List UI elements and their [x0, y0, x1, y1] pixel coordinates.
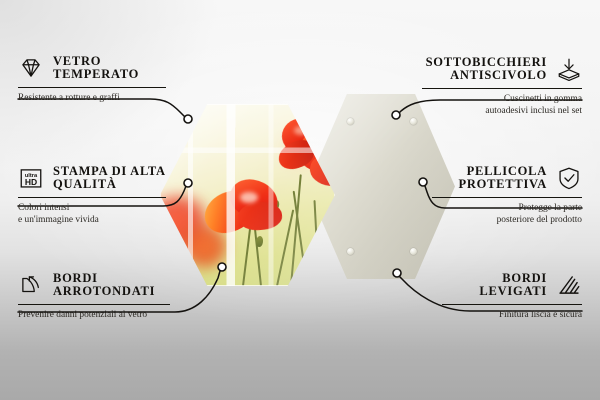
feature-vetro-temperato[interactable]: VETRO TEMPERATO Resistente a rotture e g…	[18, 55, 166, 104]
feature-subtitle-line: Cuscinetti in gomma	[422, 93, 582, 105]
feature-header: BORDI LEVIGATI	[442, 272, 582, 299]
feature-title: PELLICOLA PROTETTIVA	[458, 165, 547, 192]
feature-subtitle: Colori intensi e un'immagine vivida	[18, 202, 166, 227]
feature-divider	[422, 88, 582, 89]
feature-divider	[442, 304, 582, 305]
feature-subtitle: Protegge la parte posteriore del prodott…	[432, 202, 582, 227]
feature-subtitle: Cuscinetti in gomma autoadesivi inclusi …	[422, 93, 582, 118]
feature-title-line: LEVIGATI	[479, 285, 547, 298]
feature-header: PELLICOLA PROTETTIVA	[432, 165, 582, 192]
feature-title-line: ARROTONDATI	[53, 285, 155, 298]
feature-subtitle-line: autoadesivi inclusi nel set	[422, 105, 582, 117]
feature-title: BORDI LEVIGATI	[479, 272, 547, 299]
feature-divider	[18, 87, 166, 88]
feature-title-line: QUALITÀ	[53, 178, 166, 191]
feature-divider	[432, 197, 582, 198]
feature-title: VETRO TEMPERATO	[53, 55, 139, 82]
feature-title: BORDI ARROTONDATI	[53, 272, 155, 299]
feature-title-line: PROTETTIVA	[458, 178, 547, 191]
feature-title-line: STAMPA DI ALTA	[53, 165, 166, 178]
diamond-icon	[18, 55, 44, 81]
feature-header: VETRO TEMPERATO	[18, 55, 166, 82]
feature-stampa-alta-qualita[interactable]: ultra HD STAMPA DI ALTA QUALITÀ Colori i…	[18, 165, 166, 226]
connector-endpoint	[392, 111, 400, 119]
connector-endpoint	[184, 115, 192, 123]
connector-endpoint	[393, 269, 401, 277]
feature-divider	[18, 304, 170, 305]
feature-subtitle: Finitura liscia e sicura	[442, 309, 582, 321]
feature-header: SOTTOBICCHIERI ANTISCIVOLO	[422, 56, 582, 83]
feature-divider	[18, 197, 166, 198]
feature-subtitle: Resistente a rotture e graffi	[18, 92, 166, 104]
feature-title: STAMPA DI ALTA QUALITÀ	[53, 165, 166, 192]
feature-title-line: ANTISCIVOLO	[450, 69, 547, 82]
rounded-corner-icon	[18, 272, 44, 298]
feature-pellicola-protettiva[interactable]: PELLICOLA PROTETTIVA Protegge la parte p…	[432, 165, 582, 226]
feature-title-line: PELLICOLA	[467, 165, 547, 178]
feature-bordi-levigati[interactable]: BORDI LEVIGATI Finitura liscia e sicura	[442, 272, 582, 321]
feature-title-line: TEMPERATO	[53, 68, 139, 81]
feature-title-line: BORDI	[502, 272, 547, 285]
feature-subtitle-line: posteriore del prodotto	[432, 214, 582, 226]
ultra-hd-icon: ultra HD	[18, 165, 44, 191]
feature-sottobicchieri-antiscivolo[interactable]: SOTTOBICCHIERI ANTISCIVOLO Cuscinetti in…	[422, 56, 582, 117]
feature-title-line: SOTTOBICCHIERI	[426, 56, 547, 69]
infographic-canvas: VETRO TEMPERATO Resistente a rotture e g…	[0, 0, 600, 400]
feature-subtitle-line: e un'immagine vivida	[18, 214, 166, 226]
feature-bordi-arrotondati[interactable]: BORDI ARROTONDATI Prevenire danni potenz…	[18, 272, 170, 321]
diagonal-lines-icon	[556, 272, 582, 298]
feature-title-line: BORDI	[53, 272, 155, 285]
press-pad-icon	[556, 56, 582, 82]
feature-subtitle-line: Protegge la parte	[432, 202, 582, 214]
feature-title: SOTTOBICCHIERI ANTISCIVOLO	[426, 56, 547, 83]
feature-header: ultra HD STAMPA DI ALTA QUALITÀ	[18, 165, 166, 192]
shield-check-icon	[556, 165, 582, 191]
ultra-hd-bottom-label: HD	[25, 177, 37, 187]
feature-subtitle: Prevenire danni potenziali al vetro	[18, 309, 170, 321]
feature-subtitle-line: Colori intensi	[18, 202, 166, 214]
connector-endpoint	[218, 263, 226, 271]
feature-title-line: VETRO	[53, 55, 139, 68]
connector-endpoint	[419, 178, 427, 186]
feature-header: BORDI ARROTONDATI	[18, 272, 170, 299]
connector-endpoint	[184, 179, 192, 187]
